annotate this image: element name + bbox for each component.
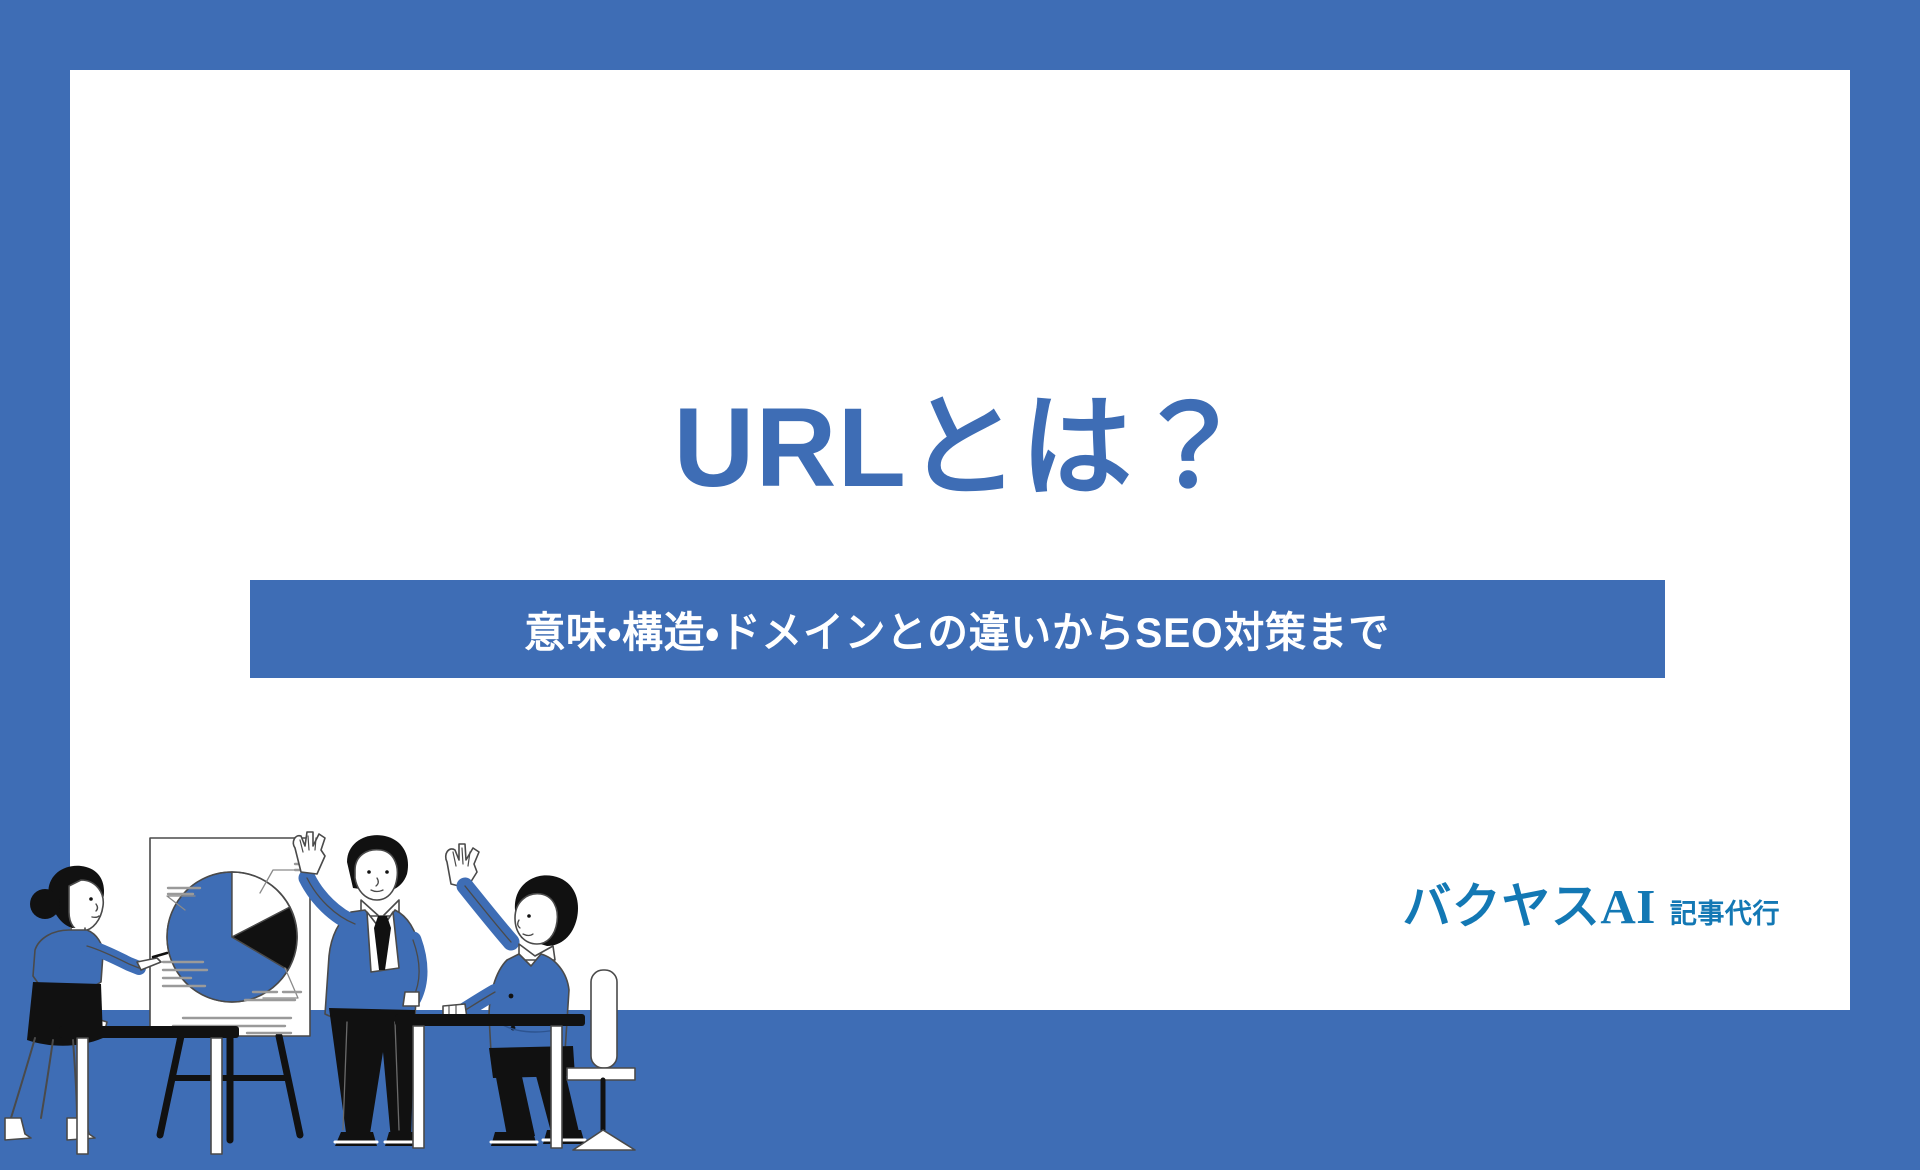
page-title: URLとは？: [70, 388, 1850, 509]
business-presentation-illustration: [0, 800, 715, 1170]
figure-man-standing: [293, 832, 423, 1146]
slide-background: URLとは？ 意味・構造・ドメインとの違いからSEO対策まで バクヤスAI 記事…: [0, 0, 1920, 1080]
subtitle-text: 意味・構造・ドメインとの違いからSEO対策まで: [525, 599, 1390, 660]
brand-logo: バクヤスAI 記事代行: [1402, 867, 1780, 938]
subtitle-band: 意味・構造・ドメインとの違いからSEO対策まで: [250, 580, 1665, 678]
brand-name: バクヤスAI: [1402, 867, 1655, 938]
brand-service-label: 記事代行: [1670, 892, 1780, 931]
